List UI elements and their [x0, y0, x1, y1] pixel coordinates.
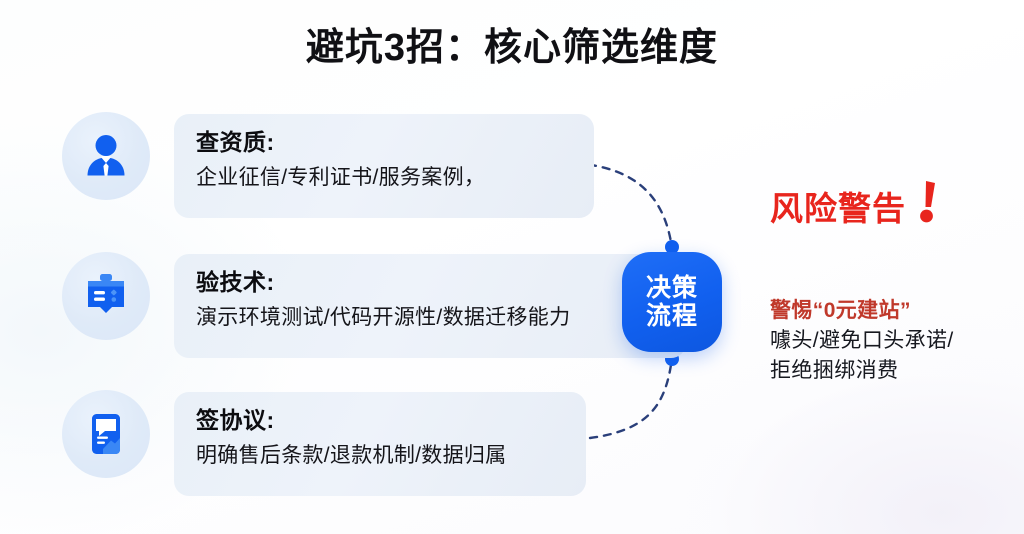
risk-warning-line-3: 拒绝捆绑消费 [770, 356, 1015, 386]
step-desc-2: 演示环境测试/代码开源性/数据迁移能力 [196, 304, 664, 331]
contract-document-icon [81, 409, 131, 459]
risk-warning-heading-row: 风险警告 [770, 182, 1015, 230]
exclamation-mark-icon [913, 179, 943, 230]
page-title: 避坑3招：核心筛选维度 [0, 16, 1024, 71]
businessperson-icon [80, 130, 132, 182]
step-card-1[interactable]: 查资质: 企业征信/专利证书/服务案例， [174, 114, 594, 218]
hub-label-line-1: 决策 [646, 274, 698, 303]
step-title-2: 验技术: [196, 268, 664, 297]
step-card-3[interactable]: 签协议: 明确售后条款/退款机制/数据归属 [174, 392, 586, 496]
businessperson-icon-badge [62, 112, 150, 200]
connector-bottom [590, 358, 672, 438]
clipboard-checklist-icon-badge [62, 252, 150, 340]
risk-warning-panel: 风险警告 警惕“0元建站” 噱头/避免口头承诺/ 拒绝捆绑消费 [770, 182, 1015, 385]
infographic-canvas: 避坑3招：核心筛选维度 查资质: 企业征信/专利证书/服务案例， [0, 0, 1024, 534]
step-card-2[interactable]: 验技术: 演示环境测试/代码开源性/数据迁移能力 [174, 254, 686, 358]
step-title-3: 签协议: [196, 406, 564, 435]
step-desc-1: 企业征信/专利证书/服务案例， [196, 164, 572, 191]
contract-document-icon-badge [62, 390, 150, 478]
clipboard-checklist-icon [81, 271, 131, 321]
risk-warning-line-1: 警惕“0元建站” [770, 296, 1015, 326]
risk-warning-body: 警惕“0元建站” 噱头/避免口头承诺/ 拒绝捆绑消费 [770, 296, 1015, 385]
hub-label-line-2: 流程 [646, 302, 698, 331]
risk-warning-heading: 风险警告 [770, 182, 906, 230]
step-desc-3: 明确售后条款/退款机制/数据归属 [196, 442, 564, 469]
decision-process-hub[interactable]: 决策 流程 [622, 252, 722, 352]
risk-warning-line-2: 噱头/避免口头承诺/ [770, 326, 1015, 356]
step-title-1: 查资质: [196, 128, 572, 157]
